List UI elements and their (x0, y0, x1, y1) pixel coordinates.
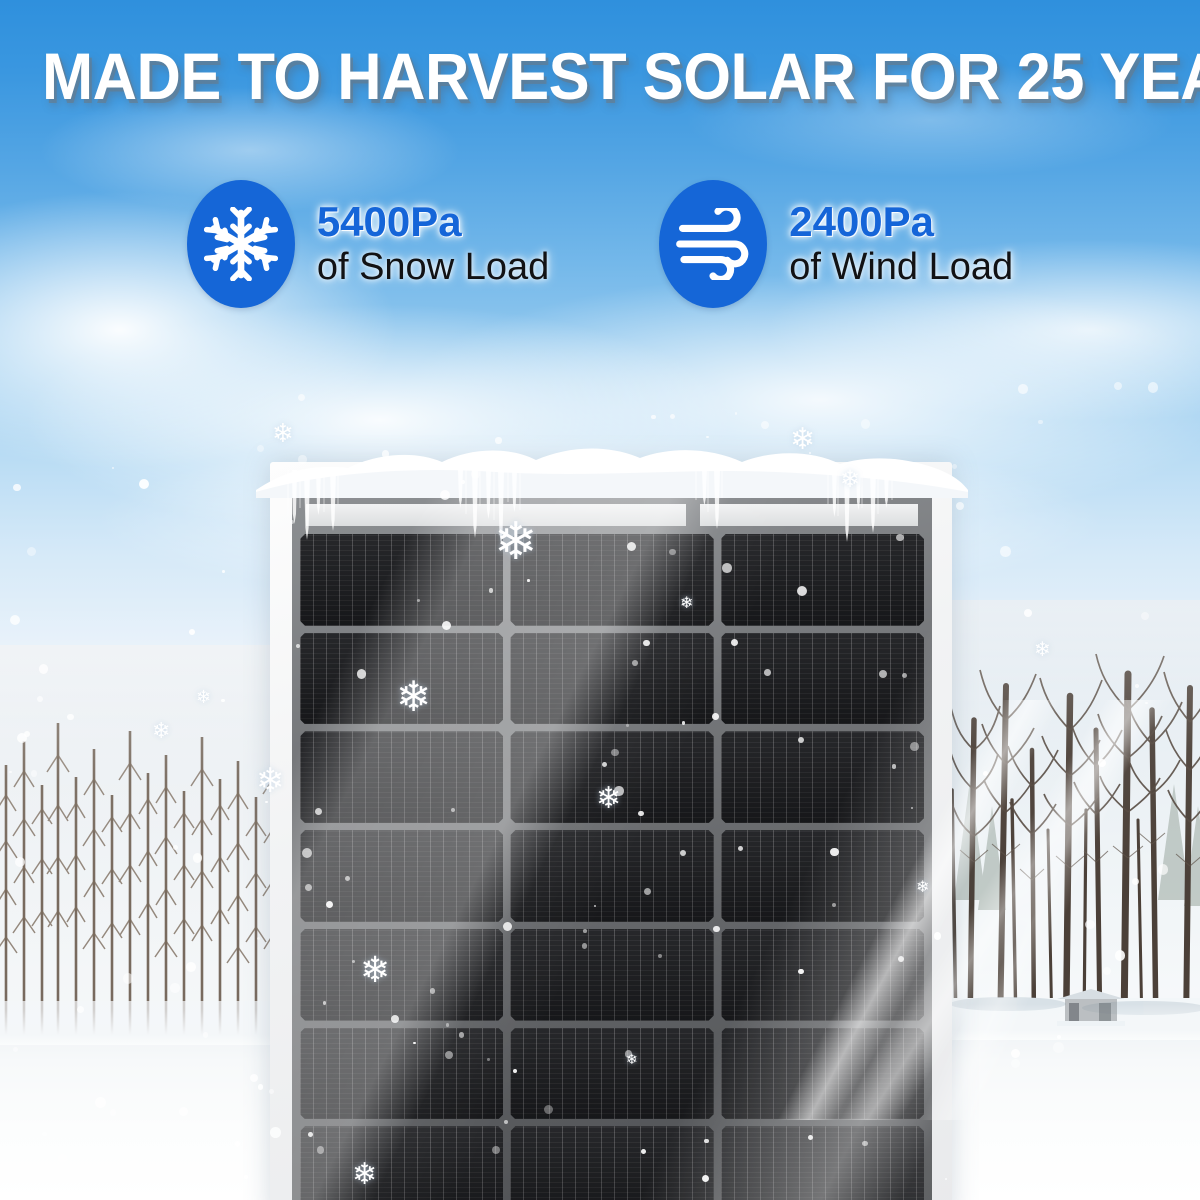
solar-cell (721, 1126, 924, 1200)
busbar-strip-right (700, 504, 918, 526)
solar-panel (270, 462, 952, 1200)
cabin-structure (1055, 985, 1127, 1027)
solar-cell (510, 830, 713, 922)
busbar-strip-left (306, 504, 686, 526)
solar-cell (300, 731, 503, 823)
solar-cell (300, 830, 503, 922)
solar-cell (721, 830, 924, 922)
wind-icon (674, 208, 752, 280)
forest-right (948, 600, 1200, 1040)
wind-icon-circle (659, 180, 767, 308)
solar-cell (300, 1028, 503, 1120)
forest-left (0, 645, 284, 1045)
wind-load-label: of Wind Load (789, 245, 1013, 290)
solar-cell (721, 1028, 924, 1120)
solar-cell (721, 534, 924, 626)
snowflake-icon-circle (187, 180, 295, 308)
solar-cell (721, 731, 924, 823)
snow-load-label: of Snow Load (317, 245, 549, 290)
solar-cell-grid (300, 534, 924, 1200)
product-feature-banner: ❄❄❄❄❄❄❄❄❄❄❄❄❄❄❄ MADE TO HARVEST SOLAR FO… (0, 0, 1200, 1200)
solar-cell (721, 929, 924, 1021)
solar-cell (510, 929, 713, 1021)
snowflake-icon (204, 207, 278, 281)
solar-cell (300, 1126, 503, 1200)
snow-load-value: 5400Pa (317, 198, 549, 245)
snow-load-text: 5400Pa of Snow Load (317, 198, 549, 290)
solar-cell (510, 731, 713, 823)
wind-load-badge: 2400Pa of Wind Load (659, 180, 1013, 308)
feature-badge-row: 5400Pa of Snow Load 2400Pa of Wind Load (0, 180, 1200, 308)
solar-cell (510, 1028, 713, 1120)
solar-cell (510, 534, 713, 626)
solar-cell (510, 1126, 713, 1200)
wind-load-value: 2400Pa (789, 198, 1013, 245)
solar-cell (300, 633, 503, 725)
page-headline: MADE TO HARVEST SOLAR FOR 25 YEARS (42, 38, 1158, 114)
solar-cell (721, 633, 924, 725)
snow-load-badge: 5400Pa of Snow Load (187, 180, 549, 308)
solar-panel-laminate (292, 482, 932, 1200)
wind-load-text: 2400Pa of Wind Load (789, 198, 1013, 290)
solar-cell (300, 534, 503, 626)
solar-cell (510, 633, 713, 725)
solar-cell (300, 929, 503, 1021)
